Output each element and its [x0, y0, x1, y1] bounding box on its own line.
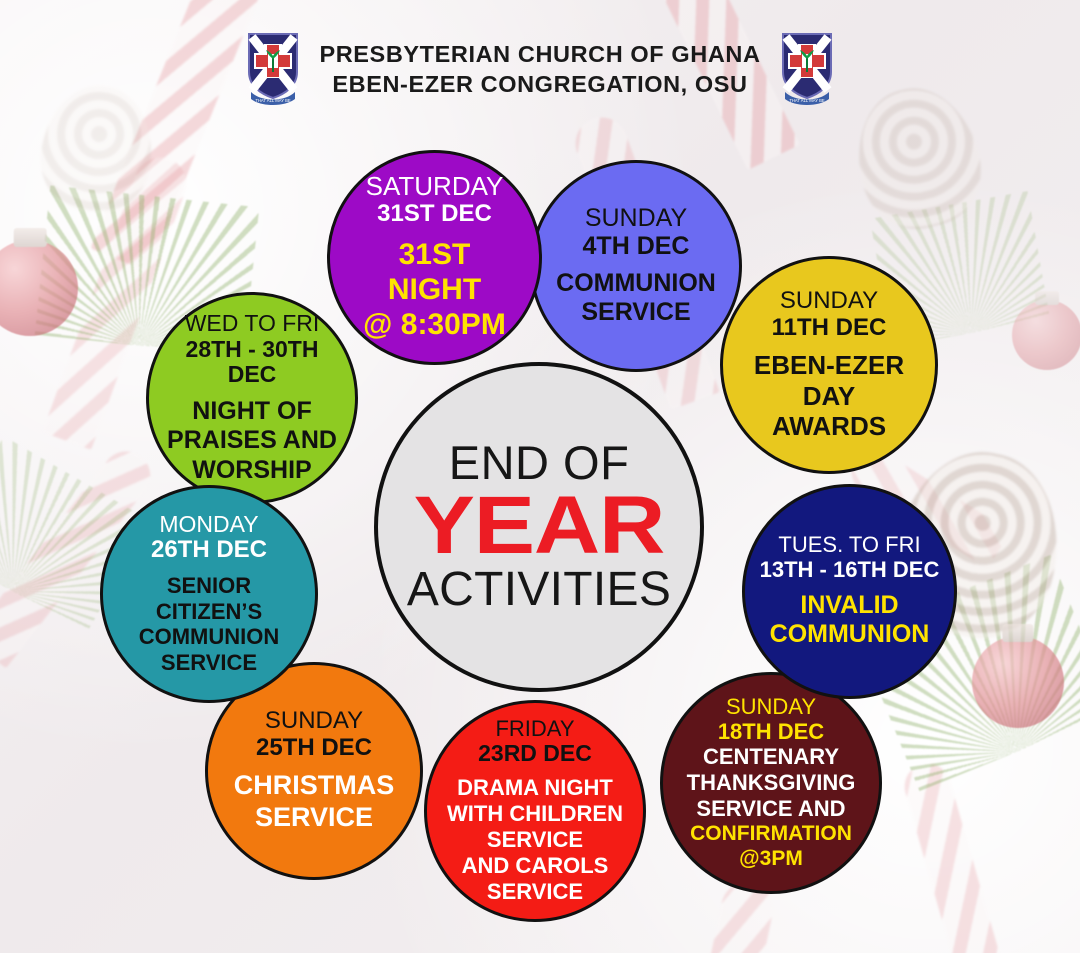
activity-date: 26TH DEC	[151, 537, 267, 564]
presbyterian-church-of-ghana-crest-icon: THAT ALL MAY BE	[779, 32, 835, 106]
activity-bubble-sunday-11th-dec[interactable]: SUNDAY 11TH DEC EBEN-EZERDAYAWARDS	[720, 256, 938, 474]
activity-body: CHRISTMASSERVICE	[234, 770, 395, 834]
activity-body: 31STNIGHT@ 8:30PM	[363, 237, 506, 343]
title-line-end-of: END OF	[449, 439, 630, 486]
activity-date: 18TH DEC	[718, 720, 824, 745]
activity-body: CENTENARYTHANKSGIVINGSERVICE AND	[687, 744, 856, 822]
presbyterian-church-of-ghana-crest-icon: THAT ALL MAY BE	[245, 32, 301, 106]
activity-date: 4TH DEC	[583, 232, 690, 260]
activity-bubble-tuesday-to-friday-13th-16th-dec[interactable]: TUES. TO FRI 13TH - 16TH DEC INVALIDCOMM…	[742, 484, 957, 699]
activity-day: SUNDAY	[726, 695, 816, 720]
svg-text:THAT ALL MAY BE: THAT ALL MAY BE	[256, 98, 292, 103]
activity-body: NIGHT OFPRAISES ANDWORSHIP	[167, 397, 337, 486]
title-line-year: YEAR	[414, 488, 665, 564]
activity-date: 11TH DEC	[772, 315, 887, 342]
svg-text:THAT ALL MAY BE: THAT ALL MAY BE	[789, 98, 825, 103]
activity-bubble-friday-23rd-dec[interactable]: FRIDAY 23RD DEC DRAMA NIGHTWITH CHILDREN…	[424, 700, 646, 922]
activity-date: 25TH DEC	[256, 735, 372, 762]
activity-bubble-sunday-18th-dec[interactable]: SUNDAY 18TH DEC CENTENARYTHANKSGIVINGSER…	[660, 672, 882, 894]
activity-day: SATURDAY	[366, 172, 504, 201]
activity-bubble-wednesday-to-friday-28th-30th-dec[interactable]: WED TO FRI 28TH - 30TH DEC NIGHT OFPRAIS…	[146, 292, 358, 504]
activity-body: DRAMA NIGHTWITH CHILDRENSERVICEAND CAROL…	[447, 775, 623, 905]
christmas-bauble-icon	[972, 636, 1064, 728]
activity-day: WED TO FRI	[185, 311, 320, 337]
activity-date: 28TH - 30TH DEC	[159, 337, 345, 389]
end-of-year-activities-poster: THAT ALL MAY BE PRESBYTERIAN CHURCH OF G…	[0, 0, 1080, 953]
activity-day: TUES. TO FRI	[778, 533, 920, 558]
activity-bubble-sunday-4th-dec[interactable]: SUNDAY 4TH DEC COMMUNIONSERVICE	[530, 160, 742, 372]
poster-title-circle: END OF YEAR ACTIVITIES	[374, 362, 704, 692]
activity-bubble-monday-26th-dec[interactable]: MONDAY 26TH DEC SENIOR CITIZEN’SCOMMUNIO…	[100, 485, 318, 703]
activity-bubble-saturday-31st-dec[interactable]: SATURDAY 31ST DEC 31STNIGHT@ 8:30PM	[327, 150, 542, 365]
activity-body: EBEN-EZERDAYAWARDS	[754, 350, 904, 442]
activity-body: COMMUNIONSERVICE	[556, 269, 716, 328]
church-name-line-2: EBEN-EZER CONGREGATION, OSU	[319, 69, 760, 99]
activity-date: 13TH - 16TH DEC	[760, 558, 940, 583]
activity-date: 23RD DEC	[478, 741, 592, 767]
activity-day: MONDAY	[159, 512, 258, 538]
poster-header: THAT ALL MAY BE PRESBYTERIAN CHURCH OF G…	[0, 32, 1080, 106]
activity-body: INVALIDCOMMUNION	[770, 591, 930, 650]
activity-body: SENIOR CITIZEN’SCOMMUNIONSERVICE	[113, 573, 305, 677]
activity-day: FRIDAY	[495, 717, 574, 742]
activity-day: SUNDAY	[780, 288, 878, 315]
title-line-activities: ACTIVITIES	[407, 566, 671, 615]
activity-day: SUNDAY	[585, 204, 687, 232]
activity-day: SUNDAY	[265, 708, 363, 735]
christmas-bauble-icon	[1012, 300, 1080, 370]
activity-date: 31ST DEC	[377, 201, 492, 228]
church-name: PRESBYTERIAN CHURCH OF GHANA EBEN-EZER C…	[319, 39, 760, 99]
church-name-line-1: PRESBYTERIAN CHURCH OF GHANA	[319, 39, 760, 69]
activity-extra: CONFIRMATION@3PM	[690, 822, 852, 871]
